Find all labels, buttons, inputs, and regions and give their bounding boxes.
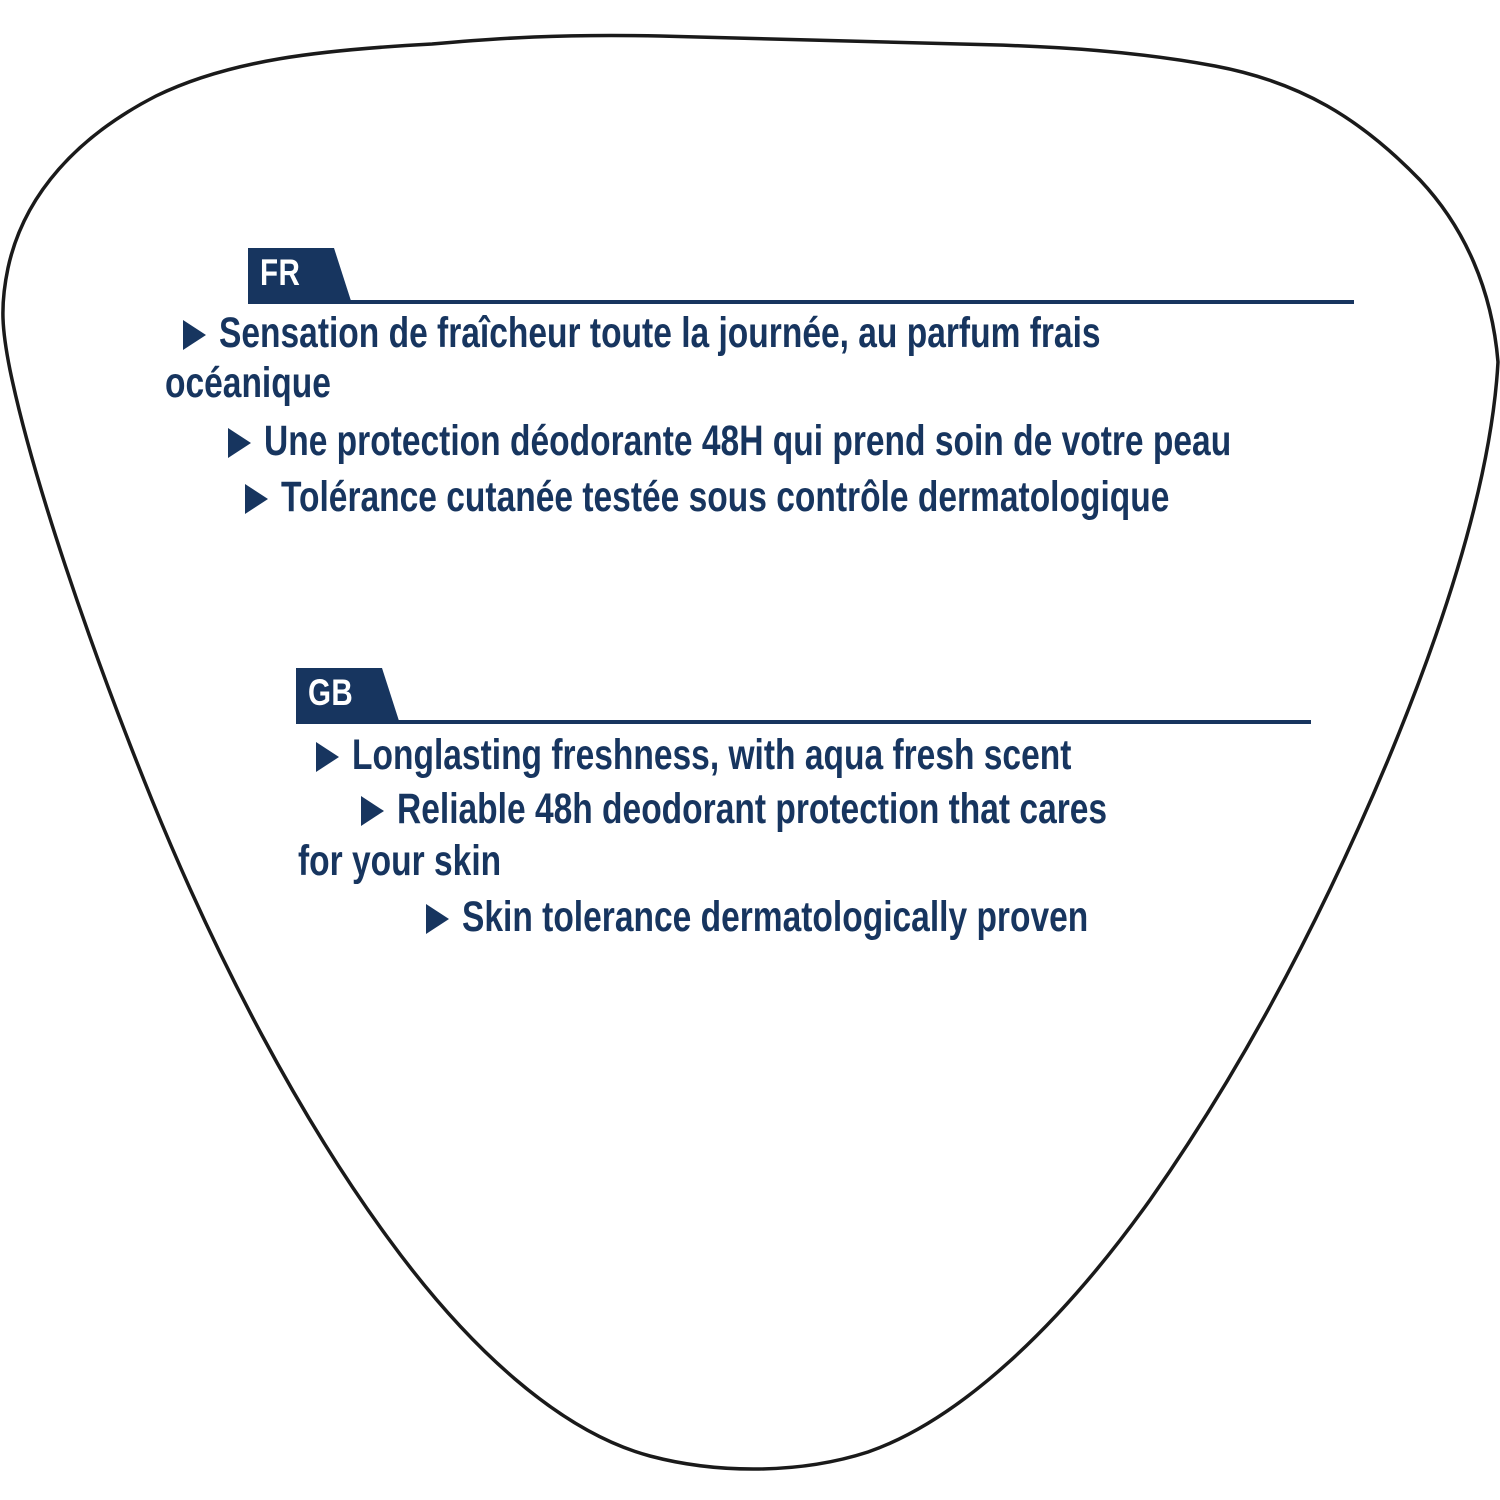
bullet-triangle-icon [228, 428, 251, 458]
list-item-text: Reliable 48h deodorant protection that c… [397, 784, 1107, 834]
language-badge-fr: FR [248, 248, 352, 304]
list-item: Skin tolerance dermatologically proven [426, 892, 1500, 942]
list-item-text: for your skin [298, 836, 501, 886]
list-item-text: Une protection déodorante 48H qui prend … [264, 416, 1231, 466]
list-item: Longlasting freshness, with aqua fresh s… [316, 730, 1500, 780]
list-item-continuation: for your skin [298, 836, 1500, 886]
list-item-continuation: océanique [165, 358, 1383, 408]
list-item: Reliable 48h deodorant protection that c… [361, 784, 1500, 834]
list-item-text: Sensation de fraîcheur toute la journée,… [219, 308, 1101, 358]
language-rule-fr [346, 300, 1354, 304]
list-item-text: Skin tolerance dermatologically proven [462, 892, 1088, 942]
list-item-text: Tolérance cutanée testée sous contrôle d… [281, 472, 1169, 522]
language-header-fr: FR [248, 248, 1308, 304]
language-badge-gb-label: GB [308, 671, 353, 715]
bullet-triangle-icon [426, 904, 449, 934]
bullet-triangle-icon [183, 320, 206, 350]
bullet-triangle-icon [316, 742, 339, 772]
bullet-triangle-icon [245, 484, 268, 514]
list-item-text: océanique [165, 358, 331, 408]
language-section-gb: GB Longlasting freshness, with aqua fres… [296, 668, 1326, 724]
language-rule-gb [386, 720, 1311, 724]
bullet-list-gb: Longlasting freshness, with aqua fresh s… [316, 730, 1500, 942]
panel-content: FR Sensation de fraîcheur toute la journ… [0, 0, 1500, 1500]
bullet-triangle-icon [361, 796, 384, 826]
language-badge-fr-label: FR [260, 251, 300, 295]
list-item: Une protection déodorante 48H qui prend … [228, 416, 1383, 466]
language-badge-gb: GB [296, 668, 400, 724]
bullet-list-fr: Sensation de fraîcheur toute la journée,… [183, 308, 1383, 522]
language-section-fr: FR Sensation de fraîcheur toute la journ… [248, 248, 1308, 304]
list-item: Sensation de fraîcheur toute la journée,… [183, 308, 1383, 358]
list-item: Tolérance cutanée testée sous contrôle d… [245, 472, 1383, 522]
language-header-gb: GB [296, 668, 1326, 724]
list-item-text: Longlasting freshness, with aqua fresh s… [352, 730, 1071, 780]
